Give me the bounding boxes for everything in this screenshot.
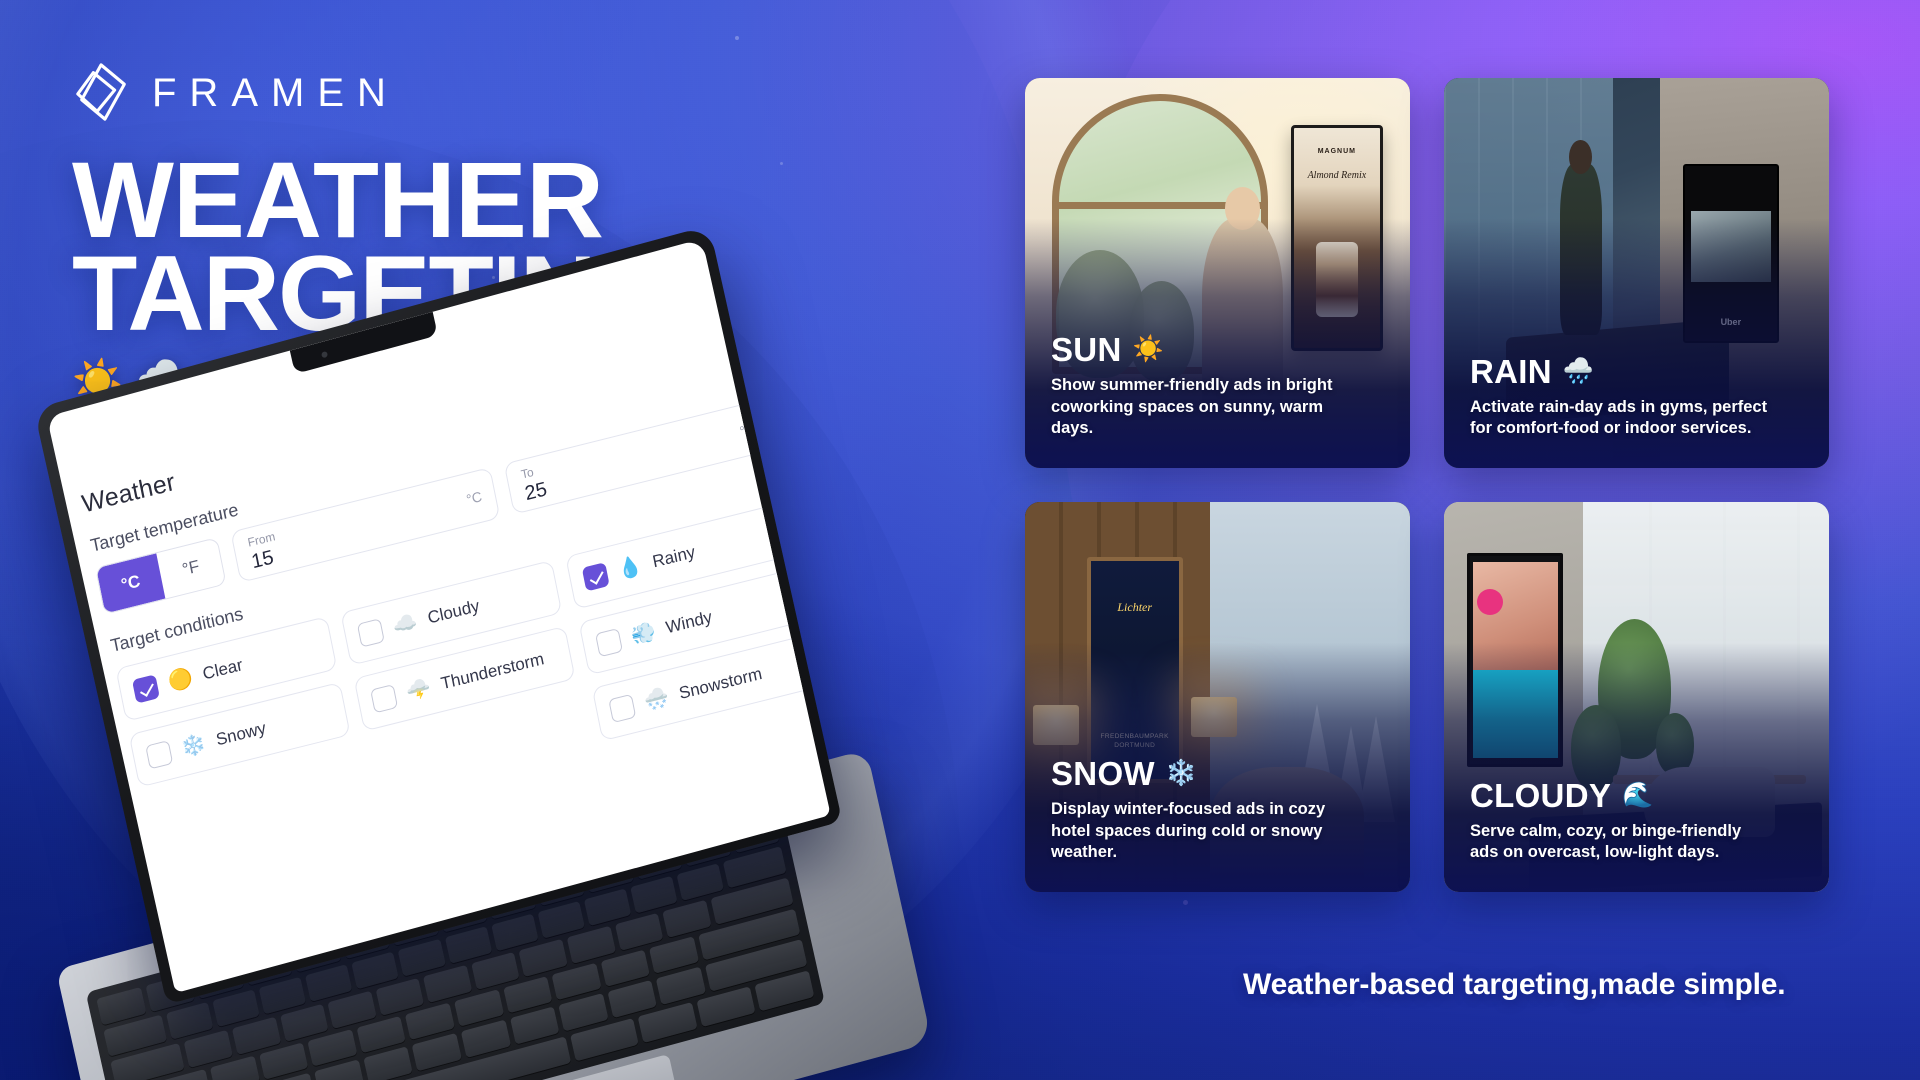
condition-label-windy: Windy (664, 607, 714, 638)
card-snow-title: SNOW (1051, 757, 1155, 790)
wind-icon: 💨 (629, 621, 657, 647)
condition-label-snowy: Snowy (214, 718, 267, 750)
checkbox-rainy[interactable] (582, 562, 610, 591)
card-rain-caption: RAIN 🌧️ Activate rain-day ads in gyms, p… (1470, 355, 1807, 440)
poster-canvas: FRAMEN WEATHER TARGETING ☀️ 🌧️ ❄️ 🌊 🌬️ (0, 0, 1920, 1080)
card-cloudy[interactable]: CLOUDY 🌊 Serve calm, cozy, or binge-frie… (1444, 502, 1829, 892)
framen-diamond-logo-icon (72, 61, 134, 123)
sun-icon: ☀️ (1133, 337, 1164, 362)
water-drop-icon: 💧 (616, 555, 644, 581)
condition-label-clear: Clear (201, 655, 244, 684)
condition-label-cloudy: Cloudy (426, 596, 481, 628)
cloud-icon: ☁️ (391, 612, 419, 638)
weather-targeting-form: Weather Target temperature °C °F From 15… (54, 302, 831, 859)
card-cloudy-caption: CLOUDY 🌊 Serve calm, cozy, or binge-frie… (1470, 779, 1807, 864)
condition-label-rainy: Rainy (651, 542, 697, 572)
card-rain-body: Activate rain-day ads in gyms, perfect f… (1470, 397, 1770, 440)
condition-label-thunderstorm: Thunderstorm (439, 649, 546, 694)
checkbox-cloudy[interactable] (357, 618, 385, 647)
card-cloudy-title: CLOUDY (1470, 779, 1611, 812)
card-cloudy-body: Serve calm, cozy, or binge-friendly ads … (1470, 821, 1770, 864)
checkbox-windy[interactable] (595, 628, 623, 657)
checkbox-clear[interactable] (132, 674, 160, 703)
card-rain-title: RAIN (1470, 355, 1552, 388)
snowflake-icon: ❄️ (180, 733, 208, 759)
checkbox-snowstorm[interactable] (608, 694, 636, 723)
background-speck (1183, 900, 1188, 905)
snowflake-icon: ❄️ (1166, 761, 1197, 786)
unit-celsius-button[interactable]: °C (96, 553, 165, 613)
card-sun[interactable]: MAGNUM Almond Remix SUN ☀️ Show summer-f… (1025, 78, 1410, 468)
card-rain[interactable]: Uber RAIN 🌧️ Activate rain-day ads in gy… (1444, 78, 1829, 468)
condition-label-snowstorm: Snowstorm (677, 664, 763, 704)
laptop-notch-camera-icon (290, 312, 438, 374)
wind-waves-icon: 🌊 (1622, 783, 1653, 808)
card-snow-title-row: SNOW ❄️ (1051, 757, 1388, 790)
card-rain-title-row: RAIN 🌧️ (1470, 355, 1807, 388)
card-sun-caption: SUN ☀️ Show summer-friendly ads in brigh… (1051, 333, 1388, 440)
card-cloudy-title-row: CLOUDY 🌊 (1470, 779, 1807, 812)
rain-cloud-icon: 🌧️ (1563, 359, 1594, 384)
tagline: Weather-based targeting,made simple. (1243, 968, 1785, 1002)
checkbox-snowy[interactable] (145, 740, 173, 769)
card-sun-title-row: SUN ☀️ (1051, 333, 1388, 366)
card-snow-caption: SNOW ❄️ Display winter-focused ads in co… (1051, 757, 1388, 864)
lightning-icon: 🌩️ (404, 677, 432, 703)
checkbox-thunderstorm[interactable] (370, 684, 398, 713)
card-snow[interactable]: Lichter FREDENBAUMPARK DORTMUND SNOW ❄️ … (1025, 502, 1410, 892)
laptop-mockup: Weather Target temperature °C °F From 15… (10, 300, 950, 1080)
sun-circle-icon: 🟡 (166, 668, 194, 694)
card-sun-body: Show summer-friendly ads in bright cowor… (1051, 375, 1351, 440)
brand-lockup: FRAMEN (72, 60, 832, 124)
brand-name: FRAMEN (152, 71, 399, 113)
card-sun-title: SUN (1051, 333, 1122, 366)
to-field-unit: °C (738, 420, 756, 440)
background-speck (735, 36, 739, 40)
card-snow-body: Display winter-focused ads in cozy hotel… (1051, 799, 1351, 864)
snow-blizzard-icon: 🌨️ (643, 687, 671, 713)
use-case-card-grid: MAGNUM Almond Remix SUN ☀️ Show summer-f… (1025, 78, 1829, 892)
unit-fahrenheit-button[interactable]: °F (156, 538, 225, 598)
